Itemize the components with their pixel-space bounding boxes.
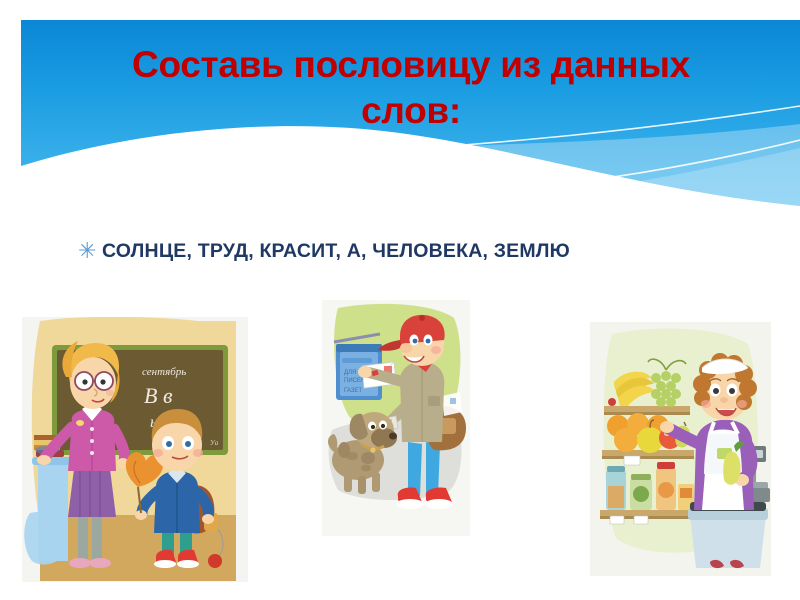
svg-text:ГАЗЕТ: ГАЗЕТ bbox=[344, 388, 362, 394]
list-item-label: СОЛНЦЕ, ТРУД, КРАСИТ, А, ЧЕЛОВЕКА, ЗЕМЛЮ bbox=[102, 238, 570, 264]
saleswoman-at-counter-illustration bbox=[590, 322, 771, 576]
picture-saleswoman-at-counter bbox=[590, 322, 771, 576]
teacher-and-schoolboy-illustration: сентябрь В в ь ь Уа bbox=[22, 317, 248, 582]
picture-teacher-and-schoolboy: сентябрь В в ь ь Уа bbox=[22, 317, 248, 582]
bullet-list: ✳ СОЛНЦЕ, ТРУД, КРАСИТ, А, ЧЕЛОВЕКА, ЗЕМ… bbox=[78, 238, 738, 270]
slide-canvas: Составь пословицу из данных слов: ✳ СОЛН… bbox=[0, 0, 800, 600]
postman-with-dog-illustration: ДЛЯ ПИСЕМ ГАЗЕТ bbox=[322, 300, 470, 536]
svg-text:Уа: Уа bbox=[210, 439, 219, 447]
header-banner: Составь пословицу из данных слов: bbox=[21, 20, 800, 222]
svg-text:ДЛЯ: ДЛЯ bbox=[344, 370, 356, 376]
list-item: ✳ СОЛНЦЕ, ТРУД, КРАСИТ, А, ЧЕЛОВЕКА, ЗЕМ… bbox=[78, 238, 738, 264]
svg-text:ПИСЕМ: ПИСЕМ bbox=[344, 378, 366, 384]
svg-text:сентябрь: сентябрь bbox=[142, 366, 186, 378]
asterisk-bullet-icon: ✳ bbox=[78, 238, 102, 264]
svg-text:В в: В в bbox=[144, 383, 173, 408]
page-title: Составь пословицу из данных слов: bbox=[61, 42, 761, 134]
picture-postman-with-dog: ДЛЯ ПИСЕМ ГАЗЕТ bbox=[322, 300, 470, 536]
